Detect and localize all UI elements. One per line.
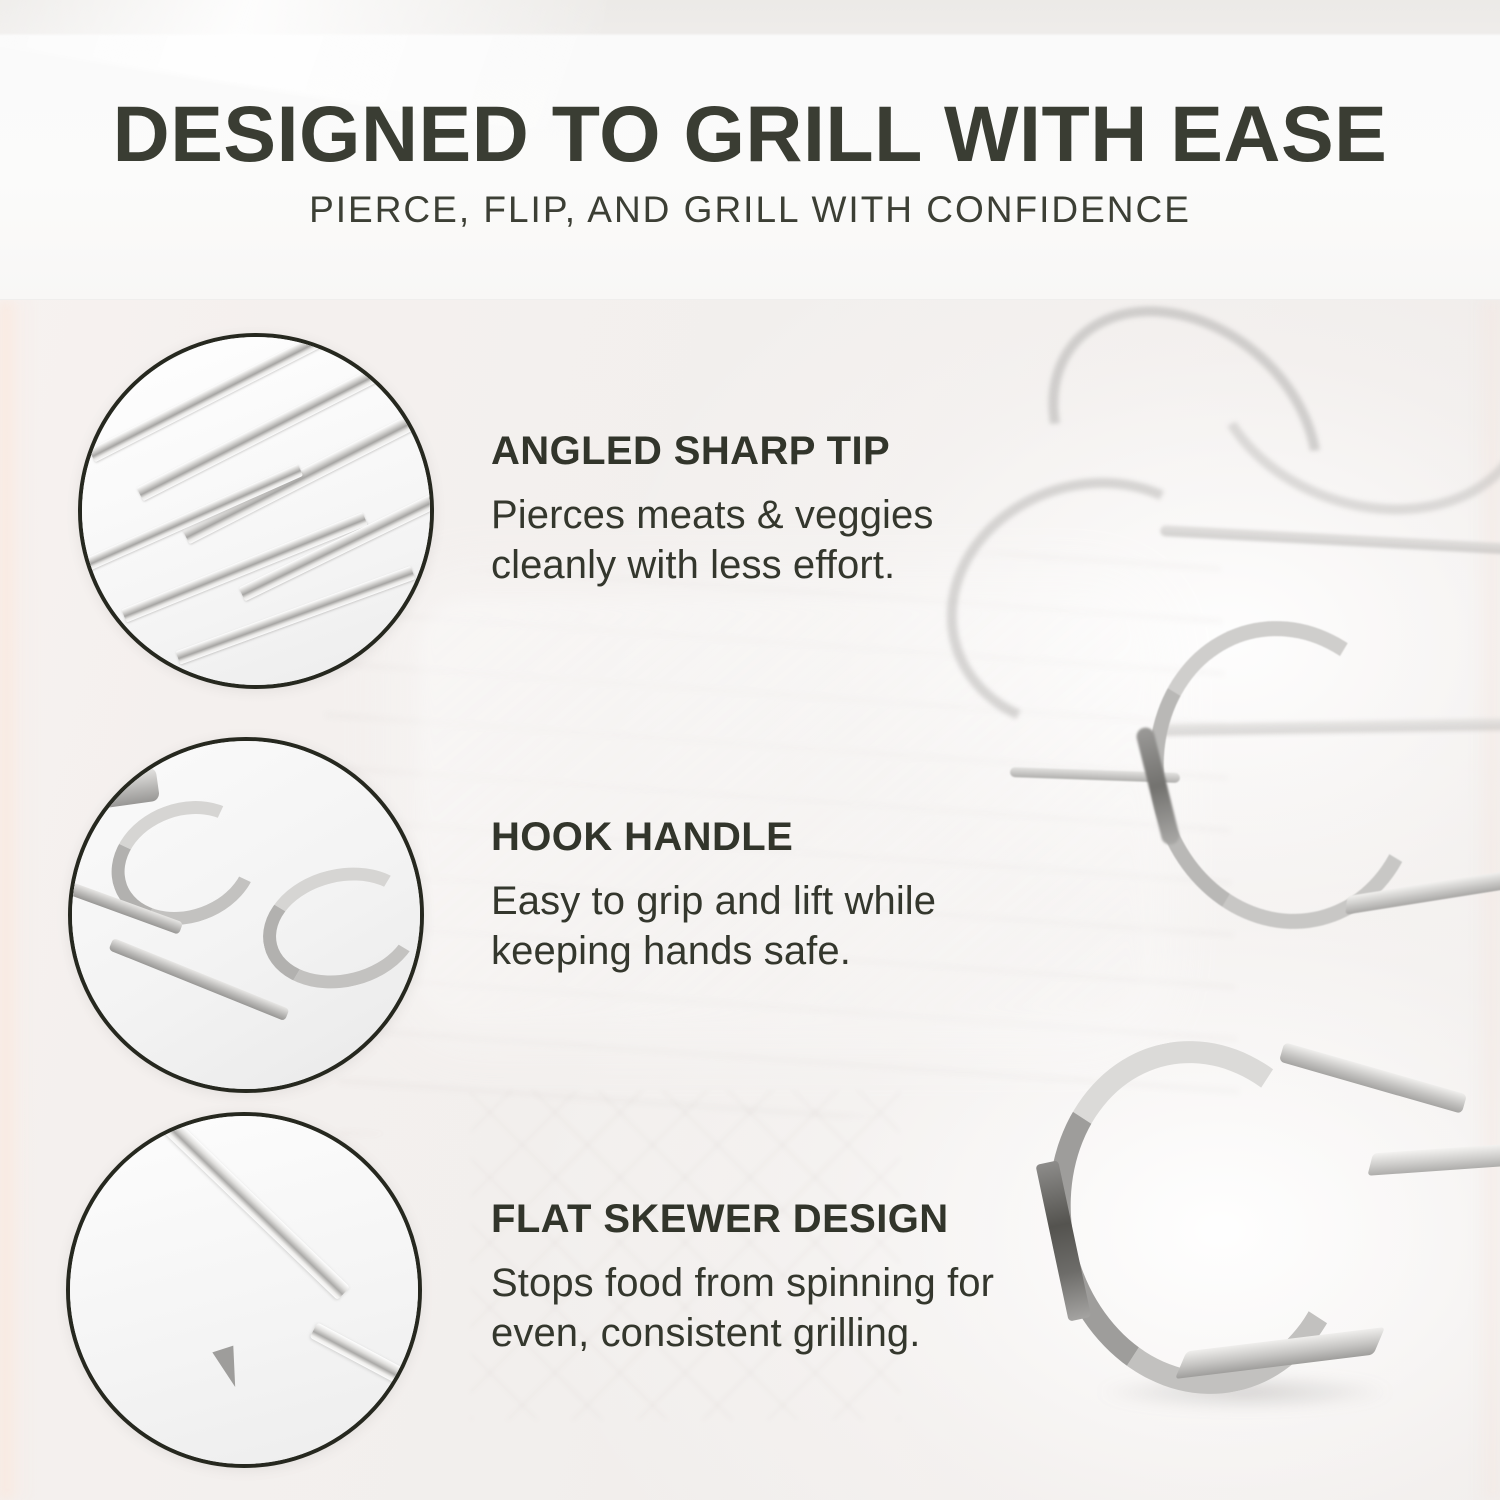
hook-secondary-tail [1345, 863, 1500, 914]
header-divider [0, 299, 1500, 300]
wire-curve-1 [996, 252, 1374, 621]
hook-primary-neck [1279, 1042, 1467, 1114]
skewer-point-tip [212, 1346, 245, 1391]
angled-tips-photo [82, 337, 430, 685]
flat-shaft-bend [310, 1322, 422, 1398]
feature-heading-1: ANGLED SHARP TIP [491, 428, 1051, 474]
left-edge-warm-glow [0, 300, 34, 1500]
wire-shaft-2 [1155, 716, 1500, 736]
hero-hook-primary [1040, 1040, 1500, 1460]
hook-primary-shaft [1367, 1142, 1500, 1176]
feature-angled-sharp-tip: ANGLED SHARP TIP Pierces meats & veggies… [491, 428, 1051, 590]
inset-flat-skewer-design [66, 1112, 422, 1468]
right-edge-warm-glow [1474, 300, 1500, 1500]
wire-shaft-1 [1160, 525, 1500, 558]
hook-partial-top [92, 767, 160, 810]
flat-shaft-left [100, 1112, 350, 1300]
feature-heading-3: FLAT SKEWER DESIGN [491, 1196, 1051, 1242]
page-subtitle: PIERCE, FLIP, AND GRILL WITH CONFIDENCE [0, 188, 1500, 232]
hook-secondary-stem [1010, 767, 1180, 783]
feature-body-3: Stops food from spinning for even, consi… [491, 1258, 1051, 1358]
hook-primary-shadow [1095, 1375, 1395, 1409]
feature-flat-skewer-design: FLAT SKEWER DESIGN Stops food from spinn… [491, 1196, 1051, 1358]
hook-primary-ring [1016, 1013, 1383, 1423]
hero-hook-secondary [1130, 615, 1500, 995]
inset-angled-sharp-tip [78, 333, 434, 689]
hook-secondary-ring [1117, 592, 1454, 958]
feature-body-1: Pierces meats & veggies cleanly with les… [491, 490, 1051, 590]
feature-body-2: Easy to grip and lift while keeping hand… [491, 876, 1051, 976]
hook-handle-photo [72, 741, 420, 1089]
flat-shaft-right [279, 1112, 422, 1257]
hook-primary-foot [1175, 1327, 1385, 1379]
feature-heading-2: HOOK HANDLE [491, 814, 1051, 860]
hook-stem-right [108, 938, 289, 1021]
page-title: DESIGNED TO GRILL WITH EASE [0, 92, 1500, 176]
feature-hook-handle: HOOK HANDLE Easy to grip and lift while … [491, 814, 1051, 976]
hook-shape-right [250, 851, 424, 1004]
product-infographic: DESIGNED TO GRILL WITH EASE PIERCE, FLIP… [0, 0, 1500, 1500]
inset-hook-handle [68, 737, 424, 1093]
flat-skewer-photo [70, 1116, 418, 1464]
